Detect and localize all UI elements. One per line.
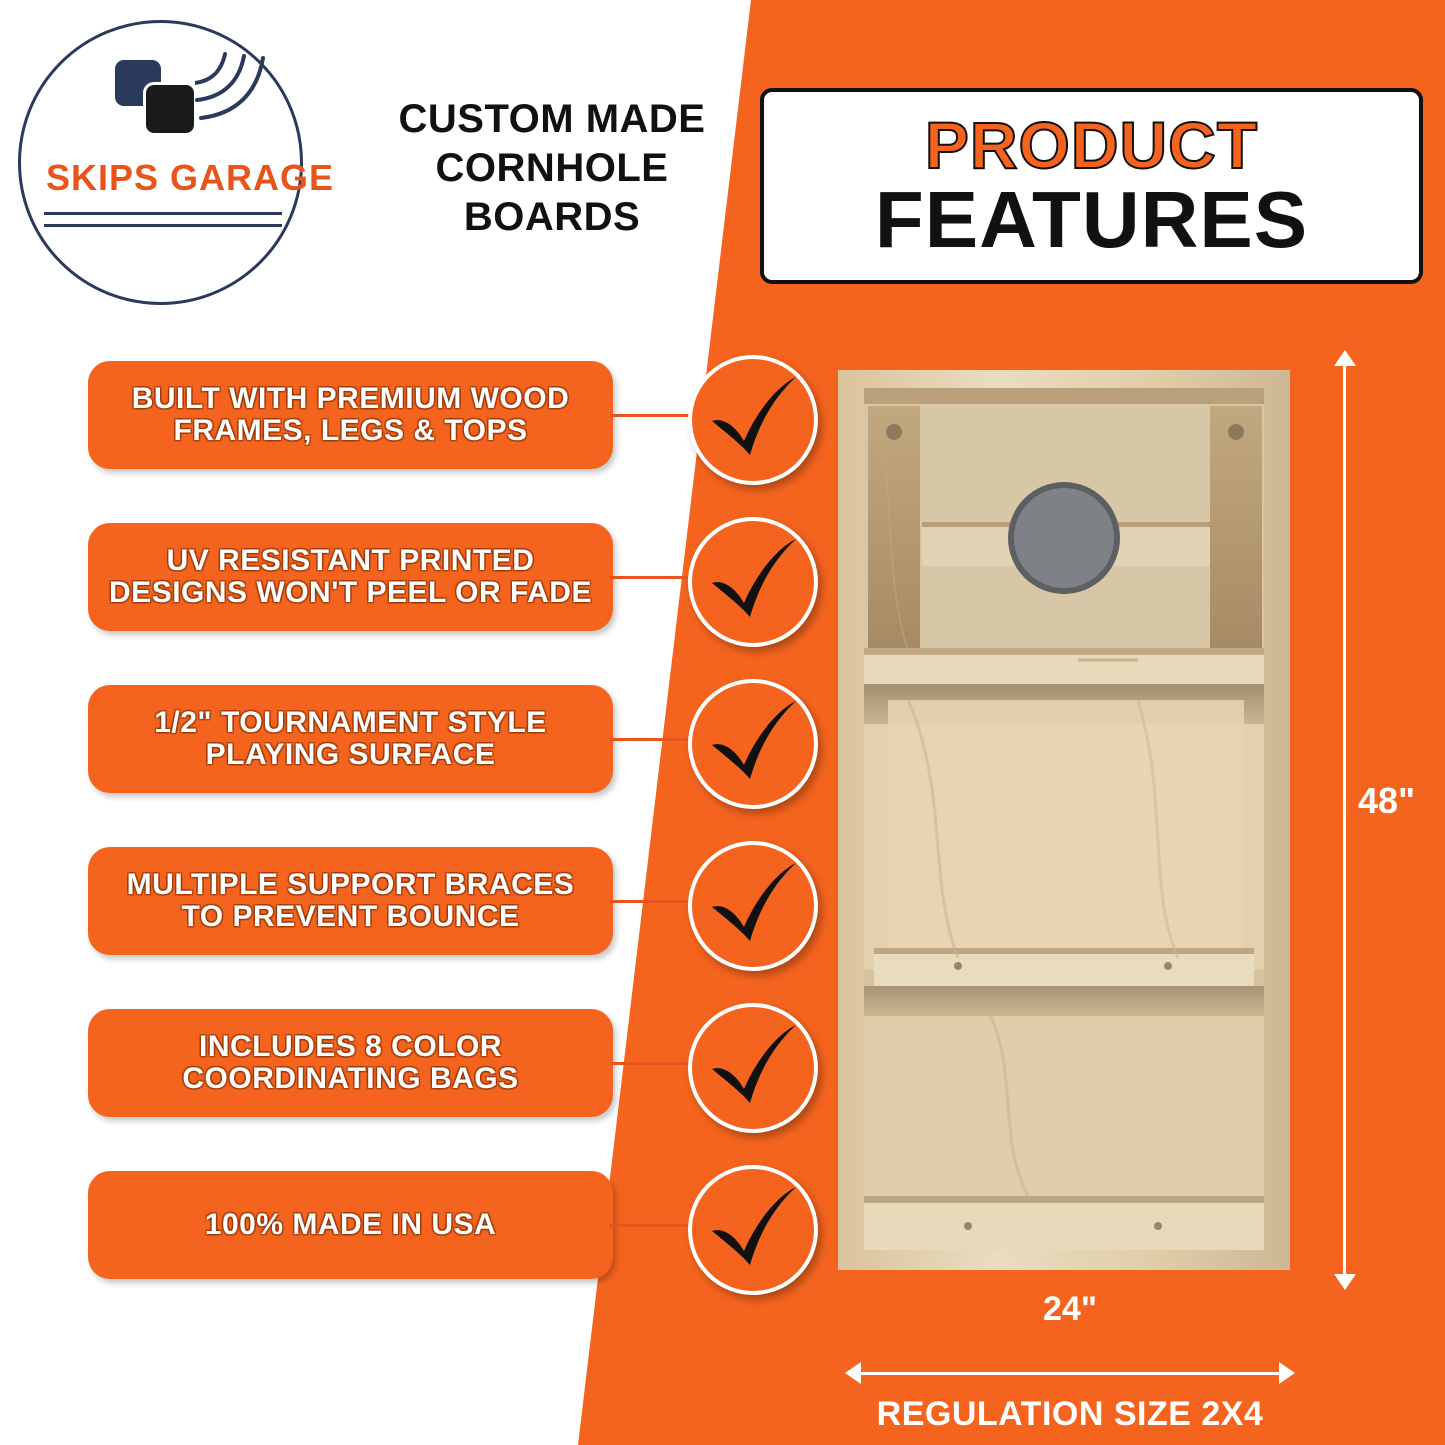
check-badge: [688, 517, 818, 647]
feature-label: MULTIPLE SUPPORT BRACES TO PREVENT BOUNC…: [88, 869, 613, 934]
feature-label: 1/2" TOURNAMENT STYLE PLAYING SURFACE: [88, 707, 613, 772]
checkmark-icon: [706, 375, 800, 465]
features-badge-line1: PRODUCT: [925, 112, 1258, 178]
feature-label: 100% MADE IN USA: [189, 1209, 512, 1241]
feature-item: INCLUDES 8 COLOR COORDINATING BAGS: [88, 1003, 828, 1123]
checkmark-icon: [706, 1023, 800, 1113]
feature-pill: BUILT WITH PREMIUM WOOD FRAMES, LEGS & T…: [88, 361, 613, 469]
check-badge: [688, 841, 818, 971]
product-image: [838, 370, 1290, 1270]
width-label: 24": [845, 1290, 1295, 1329]
checkmark-icon: [706, 537, 800, 627]
motion-swoosh-icon: [195, 52, 275, 127]
check-badge: [688, 679, 818, 809]
height-dimension: 48": [1330, 350, 1440, 1290]
features-badge-line2: FEATURES: [875, 180, 1308, 260]
checkmark-icon: [706, 861, 800, 951]
feature-item: UV RESISTANT PRINTED DESIGNS WON'T PEEL …: [88, 517, 828, 637]
page-title: CUSTOM MADE CORNHOLE BOARDS: [352, 95, 752, 241]
height-label: 48": [1358, 780, 1415, 822]
check-badge: [688, 1165, 818, 1295]
check-badge: [688, 355, 818, 485]
feature-item: 1/2" TOURNAMENT STYLE PLAYING SURFACE: [88, 679, 828, 799]
feature-pill: 100% MADE IN USA: [88, 1171, 613, 1279]
feature-label: BUILT WITH PREMIUM WOOD FRAMES, LEGS & T…: [88, 383, 613, 448]
logo-wordmark: SKIPS GARAGE: [10, 157, 370, 199]
dimension-line-vertical: [1343, 358, 1346, 1278]
feature-item: BUILT WITH PREMIUM WOOD FRAMES, LEGS & T…: [88, 355, 828, 475]
feature-pill: UV RESISTANT PRINTED DESIGNS WON'T PEEL …: [88, 523, 613, 631]
logo-underline-rules: [44, 212, 282, 236]
arrow-right-icon: [1279, 1362, 1295, 1384]
dimension-line-horizontal: [855, 1372, 1285, 1375]
feature-pill: INCLUDES 8 COLOR COORDINATING BAGS: [88, 1009, 613, 1117]
square-front-shape: [143, 82, 197, 136]
feature-item: MULTIPLE SUPPORT BRACES TO PREVENT BOUNC…: [88, 841, 828, 961]
feature-label: INCLUDES 8 COLOR COORDINATING BAGS: [88, 1031, 613, 1096]
checkmark-icon: [706, 699, 800, 789]
check-badge: [688, 1003, 818, 1133]
feature-pill: 1/2" TOURNAMENT STYLE PLAYING SURFACE: [88, 685, 613, 793]
feature-list: BUILT WITH PREMIUM WOOD FRAMES, LEGS & T…: [0, 355, 840, 1305]
arrow-down-icon: [1334, 1274, 1356, 1290]
cornhole-board-illustration: [838, 370, 1290, 1270]
width-dimension: 24": [845, 1290, 1295, 1400]
feature-item: 100% MADE IN USA: [88, 1165, 828, 1285]
regulation-size-caption: REGULATION SIZE 2X4: [820, 1395, 1320, 1434]
checkmark-icon: [706, 1185, 800, 1275]
brand-logo: SKIPS GARAGE: [10, 12, 340, 302]
product-features-badge: PRODUCT FEATURES: [760, 88, 1423, 284]
feature-pill: MULTIPLE SUPPORT BRACES TO PREVENT BOUNC…: [88, 847, 613, 955]
feature-label: UV RESISTANT PRINTED DESIGNS WON'T PEEL …: [88, 545, 613, 610]
